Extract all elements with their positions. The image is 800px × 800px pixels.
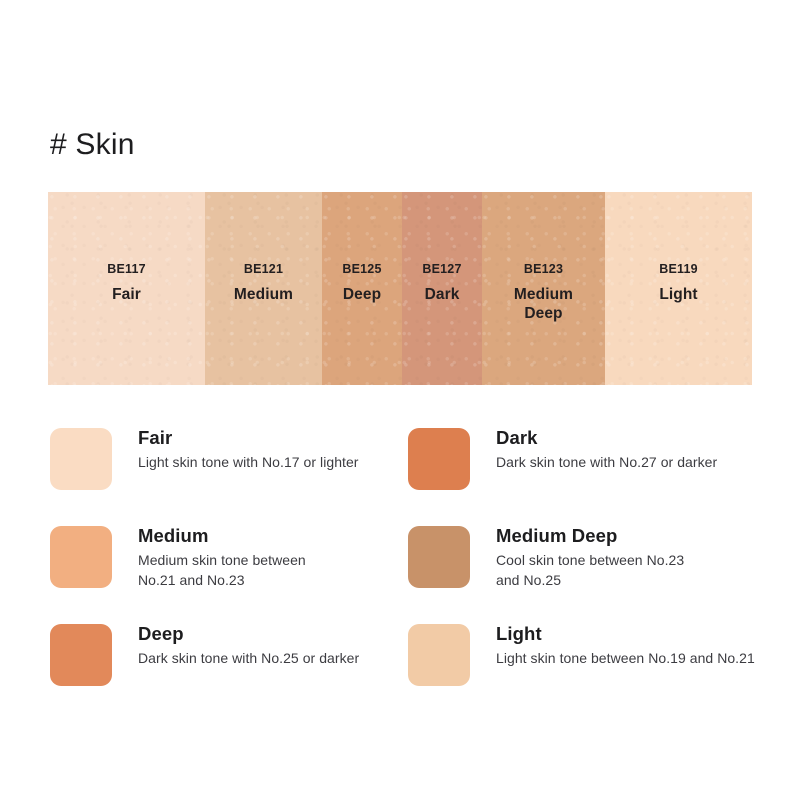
shade-legend: Fair Light skin tone with No.17 or light…	[50, 426, 760, 700]
page-title: # Skin	[50, 128, 135, 162]
legend-title: Deep	[138, 623, 359, 644]
shade-name: Deep	[343, 285, 381, 304]
shade-segment[interactable]: BE117 Fair	[48, 192, 205, 385]
legend-title: Fair	[138, 427, 359, 448]
shade-segment[interactable]: BE125 Deep	[322, 192, 402, 385]
legend-description: Light skin tone between No.19 and No.21	[496, 649, 755, 669]
legend-item[interactable]: Dark Dark skin tone with No.27 or darker	[408, 426, 760, 504]
shade-segment[interactable]: BE119 Light	[605, 192, 752, 385]
legend-text: Medium Deep Cool skin tone between No.23…	[496, 524, 684, 591]
shade-segment[interactable]: BE121 Medium	[205, 192, 322, 385]
legend-item[interactable]: Deep Dark skin tone with No.25 or darker	[50, 622, 402, 700]
legend-description: Medium skin tone between No.21 and No.23	[138, 551, 306, 591]
shade-code: BE117	[107, 263, 146, 276]
legend-description: Dark skin tone with No.25 or darker	[138, 649, 359, 669]
legend-text: Light Light skin tone between No.19 and …	[496, 622, 755, 669]
legend-color-swatch	[50, 428, 112, 490]
legend-title: Medium	[138, 525, 306, 546]
shade-code: BE121	[244, 263, 283, 276]
shade-name: Dark	[425, 285, 460, 304]
legend-title: Dark	[496, 427, 717, 448]
legend-description: Dark skin tone with No.27 or darker	[496, 453, 717, 473]
shade-name: Fair	[112, 285, 141, 304]
legend-title: Light	[496, 623, 755, 644]
legend-color-swatch	[408, 526, 470, 588]
legend-text: Fair Light skin tone with No.17 or light…	[138, 426, 359, 473]
shade-name: Medium Deep	[514, 285, 573, 324]
shade-code: BE119	[659, 263, 698, 276]
shade-band: BE117 Fair BE121 Medium BE125 Deep BE127…	[48, 192, 752, 385]
legend-item[interactable]: Medium Medium skin tone between No.21 an…	[50, 524, 402, 602]
legend-item[interactable]: Fair Light skin tone with No.17 or light…	[50, 426, 402, 504]
legend-title: Medium Deep	[496, 525, 684, 546]
shade-code: BE125	[342, 263, 381, 276]
shade-code: BE127	[422, 263, 461, 276]
shade-name: Light	[659, 285, 697, 304]
legend-color-swatch	[408, 428, 470, 490]
legend-text: Medium Medium skin tone between No.21 an…	[138, 524, 306, 591]
legend-color-swatch	[50, 624, 112, 686]
legend-item[interactable]: Medium Deep Cool skin tone between No.23…	[408, 524, 760, 602]
shade-segment[interactable]: BE127 Dark	[402, 192, 482, 385]
shade-segment[interactable]: BE123 Medium Deep	[482, 192, 605, 385]
legend-description: Cool skin tone between No.23 and No.25	[496, 551, 684, 591]
legend-text: Deep Dark skin tone with No.25 or darker	[138, 622, 359, 669]
legend-item[interactable]: Light Light skin tone between No.19 and …	[408, 622, 760, 700]
shade-code: BE123	[524, 263, 563, 276]
legend-color-swatch	[408, 624, 470, 686]
shade-name: Medium	[234, 285, 293, 304]
legend-description: Light skin tone with No.17 or lighter	[138, 453, 359, 473]
legend-text: Dark Dark skin tone with No.27 or darker	[496, 426, 717, 473]
legend-color-swatch	[50, 526, 112, 588]
